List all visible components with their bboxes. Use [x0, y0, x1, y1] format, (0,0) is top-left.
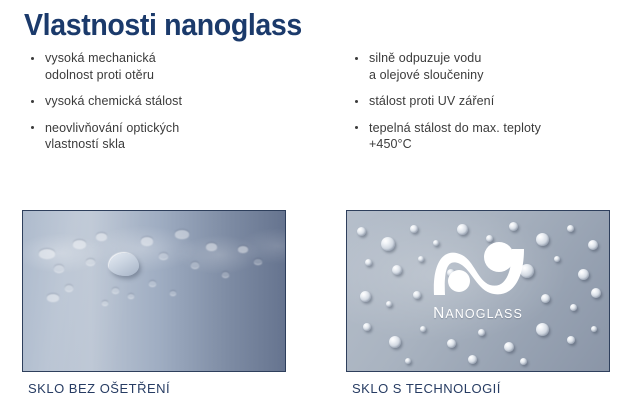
- features-column-right: silně odpuzuje vodu a olejové sloučeniny…: [352, 50, 632, 163]
- list-item: neovlivňování optických vlastností skla: [28, 120, 328, 153]
- list-item-line: vysoká chemická stálost: [45, 93, 328, 110]
- list-item-line: neovlivňování optických: [45, 120, 328, 137]
- features-section: vysoká mechanická odolnost proti otěru v…: [0, 50, 637, 170]
- wordmark-initial: N: [433, 305, 445, 322]
- large-water-smear: [109, 253, 139, 276]
- features-column-left: vysoká mechanická odolnost proti otěru v…: [28, 50, 328, 163]
- treated-glass-surface: NANOGLASS: [347, 211, 609, 371]
- list-item: tepelná stálost do max. teploty +450°C: [352, 120, 632, 153]
- list-item-line: odolnost proti otěru: [45, 67, 328, 84]
- untreated-glass-surface: [23, 211, 285, 371]
- list-item-line: silně odpuzuje vodu: [369, 50, 632, 67]
- caption-untreated: SKLO BEZ OŠETŘENÍ: [28, 381, 170, 396]
- nanoglass-wordmark: NANOGLASS: [412, 305, 544, 323]
- list-item: stálost proti UV záření: [352, 93, 632, 110]
- water-film-band: [22, 224, 286, 298]
- wordmark-rest: ANOGLASS: [445, 307, 523, 321]
- list-item-line: a olejové sloučeniny: [369, 67, 632, 84]
- list-item-line: stálost proti UV záření: [369, 93, 632, 110]
- page-title: Vlastnosti nanoglass: [24, 6, 302, 44]
- list-item-line: tepelná stálost do max. teploty: [369, 120, 632, 137]
- list-item-line: vlastností skla: [45, 136, 328, 153]
- list-item: vysoká mechanická odolnost proti otěru: [28, 50, 328, 83]
- caption-treated: SKLO S TECHNOLOGIÍ: [352, 381, 501, 396]
- nanoglass-logo: NANOGLASS: [412, 233, 544, 329]
- untreated-glass-photo: [22, 210, 286, 372]
- list-item-line: +450°C: [369, 136, 632, 153]
- list-item: vysoká chemická stálost: [28, 93, 328, 110]
- slide-root: Vlastnosti nanoglass vysoká mechanická o…: [0, 0, 637, 412]
- list-item-line: vysoká mechanická: [45, 50, 328, 67]
- treated-glass-photo: NANOGLASS: [346, 210, 610, 372]
- list-item: silně odpuzuje vodu a olejové sloučeniny: [352, 50, 632, 83]
